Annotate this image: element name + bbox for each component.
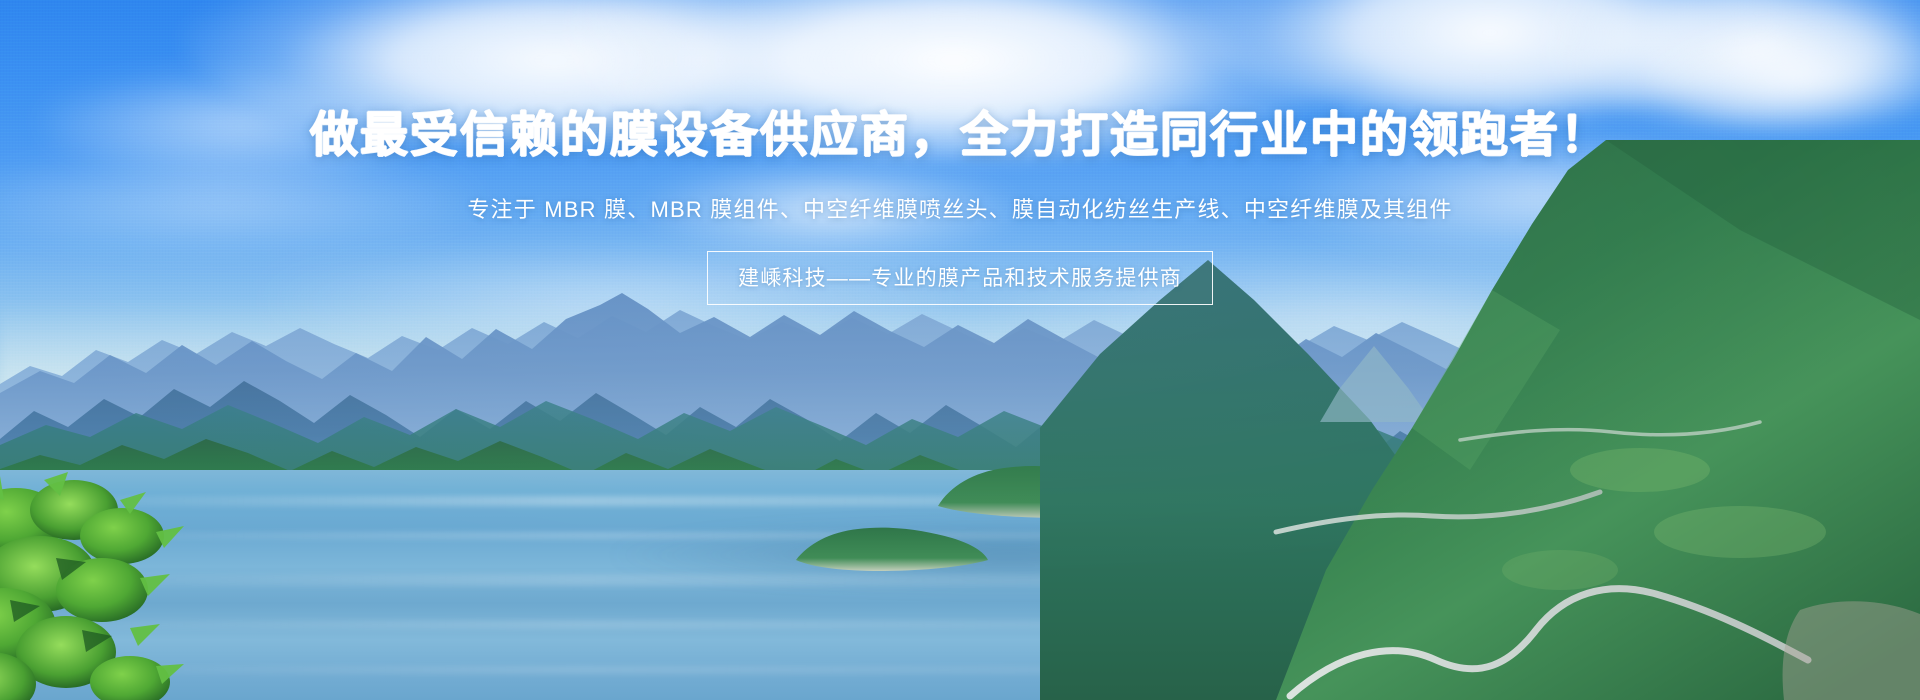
page-title: 做最受信赖的膜设备供应商，全力打造同行业中的领跑者！	[0, 108, 1920, 165]
hero-text-block: 做最受信赖的膜设备供应商，全力打造同行业中的领跑者！ 专注于 MBR 膜、MBR…	[0, 0, 1920, 305]
lake-islet	[790, 522, 990, 572]
company-tagline-box: 建嵊科技——专业的膜产品和技术服务提供商	[707, 251, 1213, 305]
hero-subtitle: 专注于 MBR 膜、MBR 膜组件、中空纤维膜喷丝头、膜自动化纺丝生产线、中空纤…	[0, 192, 1920, 224]
tagline-container: 建嵊科技——专业的膜产品和技术服务提供商	[0, 251, 1920, 305]
foreground-foliage	[0, 470, 310, 700]
hero-banner: 做最受信赖的膜设备供应商，全力打造同行业中的领跑者！ 专注于 MBR 膜、MBR…	[0, 0, 1920, 700]
